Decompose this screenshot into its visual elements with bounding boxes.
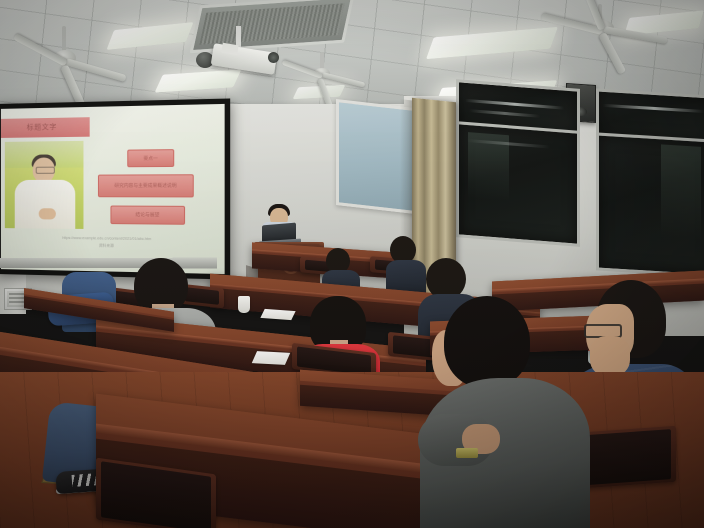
screen-bottom-bar (0, 258, 217, 269)
vent-grille (199, 3, 344, 44)
fan-pole (62, 26, 66, 52)
slide-callout-box: 要点一 (127, 149, 174, 167)
slide-callout-box: 研究内容与主要成果概述说明 (98, 174, 194, 197)
slide-callout-box: 结论与展望 (110, 206, 185, 225)
window-pane-right (596, 132, 704, 277)
window-pane-left (456, 121, 580, 247)
slide-photo-glasses-icon (36, 167, 55, 174)
paper-sheet (252, 351, 291, 365)
mobile-phone (456, 448, 478, 458)
slide-photo-body (15, 180, 76, 229)
slide-photo-hand (39, 208, 56, 219)
slide-callout-text: 结论与展望 (133, 212, 161, 218)
slide-callout-text: 研究内容与主要成果概述说明 (112, 183, 179, 189)
person-hand (590, 336, 630, 376)
slide-title-text: 标题文字 (1, 117, 90, 138)
person-head (444, 296, 530, 388)
slide-callout-text: 要点一 (141, 155, 160, 161)
projection-screen: 标题文字 要点一 研究内容与主要成果概述说明 结论与展望 https://www… (0, 98, 230, 279)
slide-photo (5, 141, 84, 229)
paper-sheet (260, 309, 295, 320)
slide-title-banner: 标题文字 (1, 117, 90, 138)
paper-cup (238, 296, 250, 313)
classroom-photo: 标题文字 要点一 研究内容与主要成果概述说明 结论与展望 https://www… (0, 0, 704, 528)
projected-slide: 标题文字 要点一 研究内容与主要成果概述说明 结论与展望 https://www… (1, 104, 225, 274)
